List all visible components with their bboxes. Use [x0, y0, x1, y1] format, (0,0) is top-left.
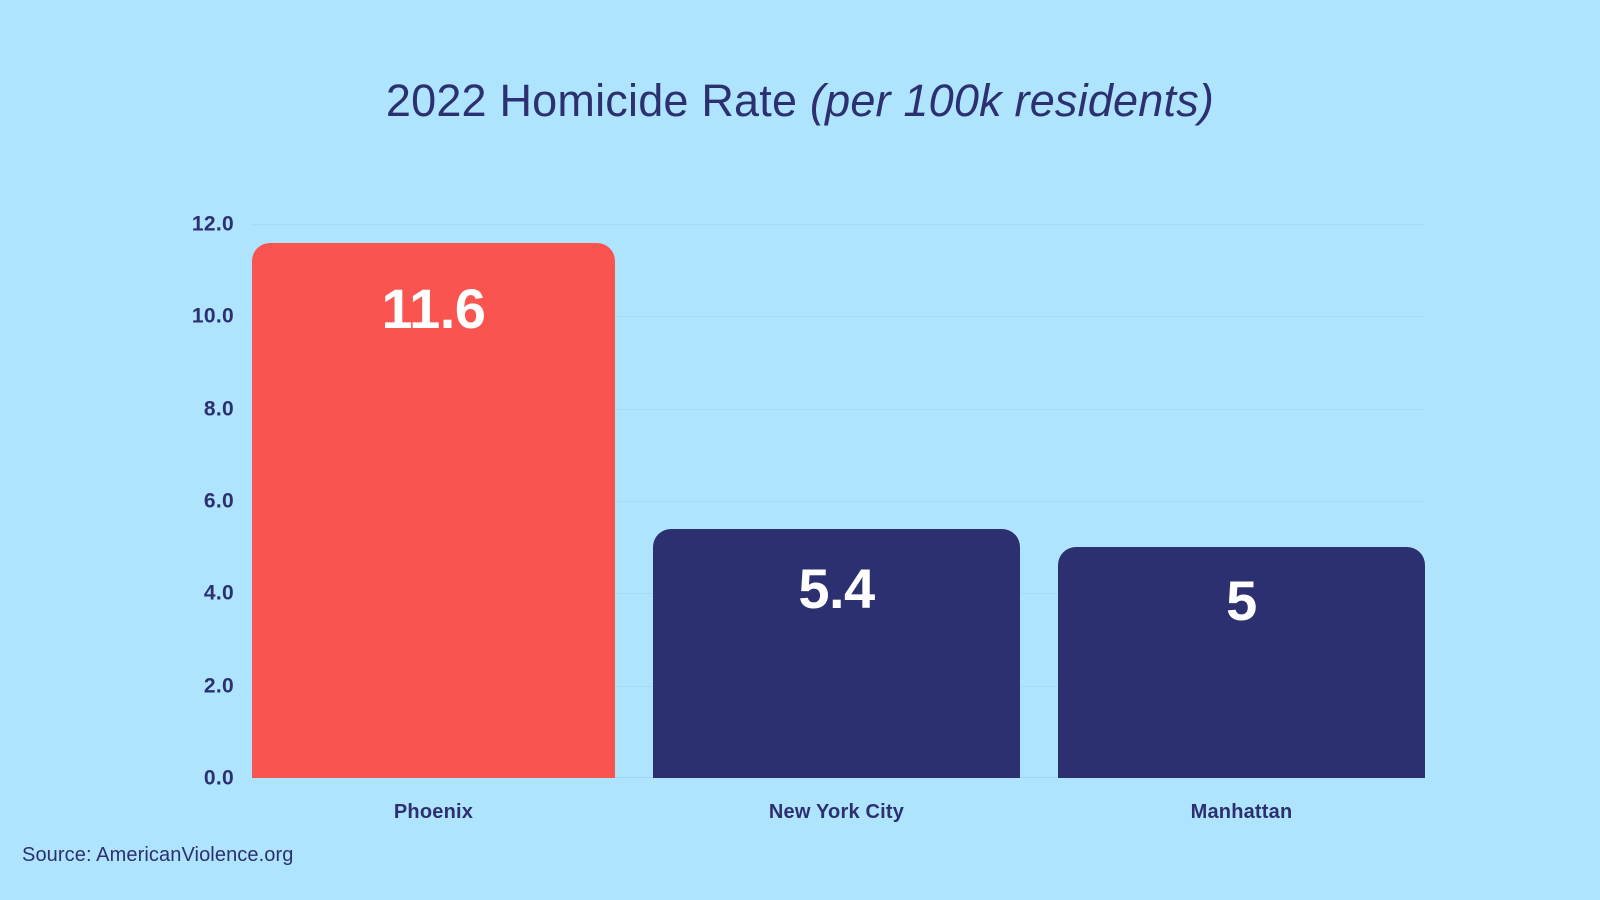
y-tick-label-4: 4.0 — [154, 583, 234, 604]
x-axis-label-phoenix: Phoenix — [252, 802, 615, 822]
chart-title-main: 2022 Homicide Rate — [386, 75, 810, 126]
y-tick-label-2: 2.0 — [154, 675, 234, 696]
y-tick-label-12: 12.0 — [154, 214, 234, 235]
y-axis: 12.0 10.0 8.0 6.0 4.0 2.0 0.0 — [0, 0, 252, 900]
gridline-12 — [252, 224, 1425, 225]
bar-phoenix[interactable]: 11.6 — [252, 243, 615, 779]
bar-manhattan[interactable]: 5 — [1058, 547, 1425, 778]
chart-title-subtitle: (per 100k residents) — [810, 75, 1214, 126]
y-tick-label-8: 8.0 — [154, 398, 234, 419]
bar-new-york-city[interactable]: 5.4 — [653, 529, 1020, 778]
bar-value-manhattan: 5 — [1058, 573, 1425, 629]
x-axis-label-manhattan: Manhattan — [1058, 802, 1425, 822]
source-note: Source: AmericanViolence.org — [22, 845, 293, 865]
y-tick-label-10: 10.0 — [154, 306, 234, 327]
homicide-rate-bar-chart: 2022 Homicide Rate (per 100k residents) … — [0, 0, 1600, 900]
bar-value-new-york-city: 5.4 — [653, 561, 1020, 617]
y-tick-label-0: 0.0 — [154, 768, 234, 789]
plot-area: 11.6 5.4 5 — [252, 224, 1425, 778]
x-axis-label-new-york-city: New York City — [653, 802, 1020, 822]
y-tick-label-6: 6.0 — [154, 491, 234, 512]
bar-value-phoenix: 11.6 — [252, 281, 615, 337]
